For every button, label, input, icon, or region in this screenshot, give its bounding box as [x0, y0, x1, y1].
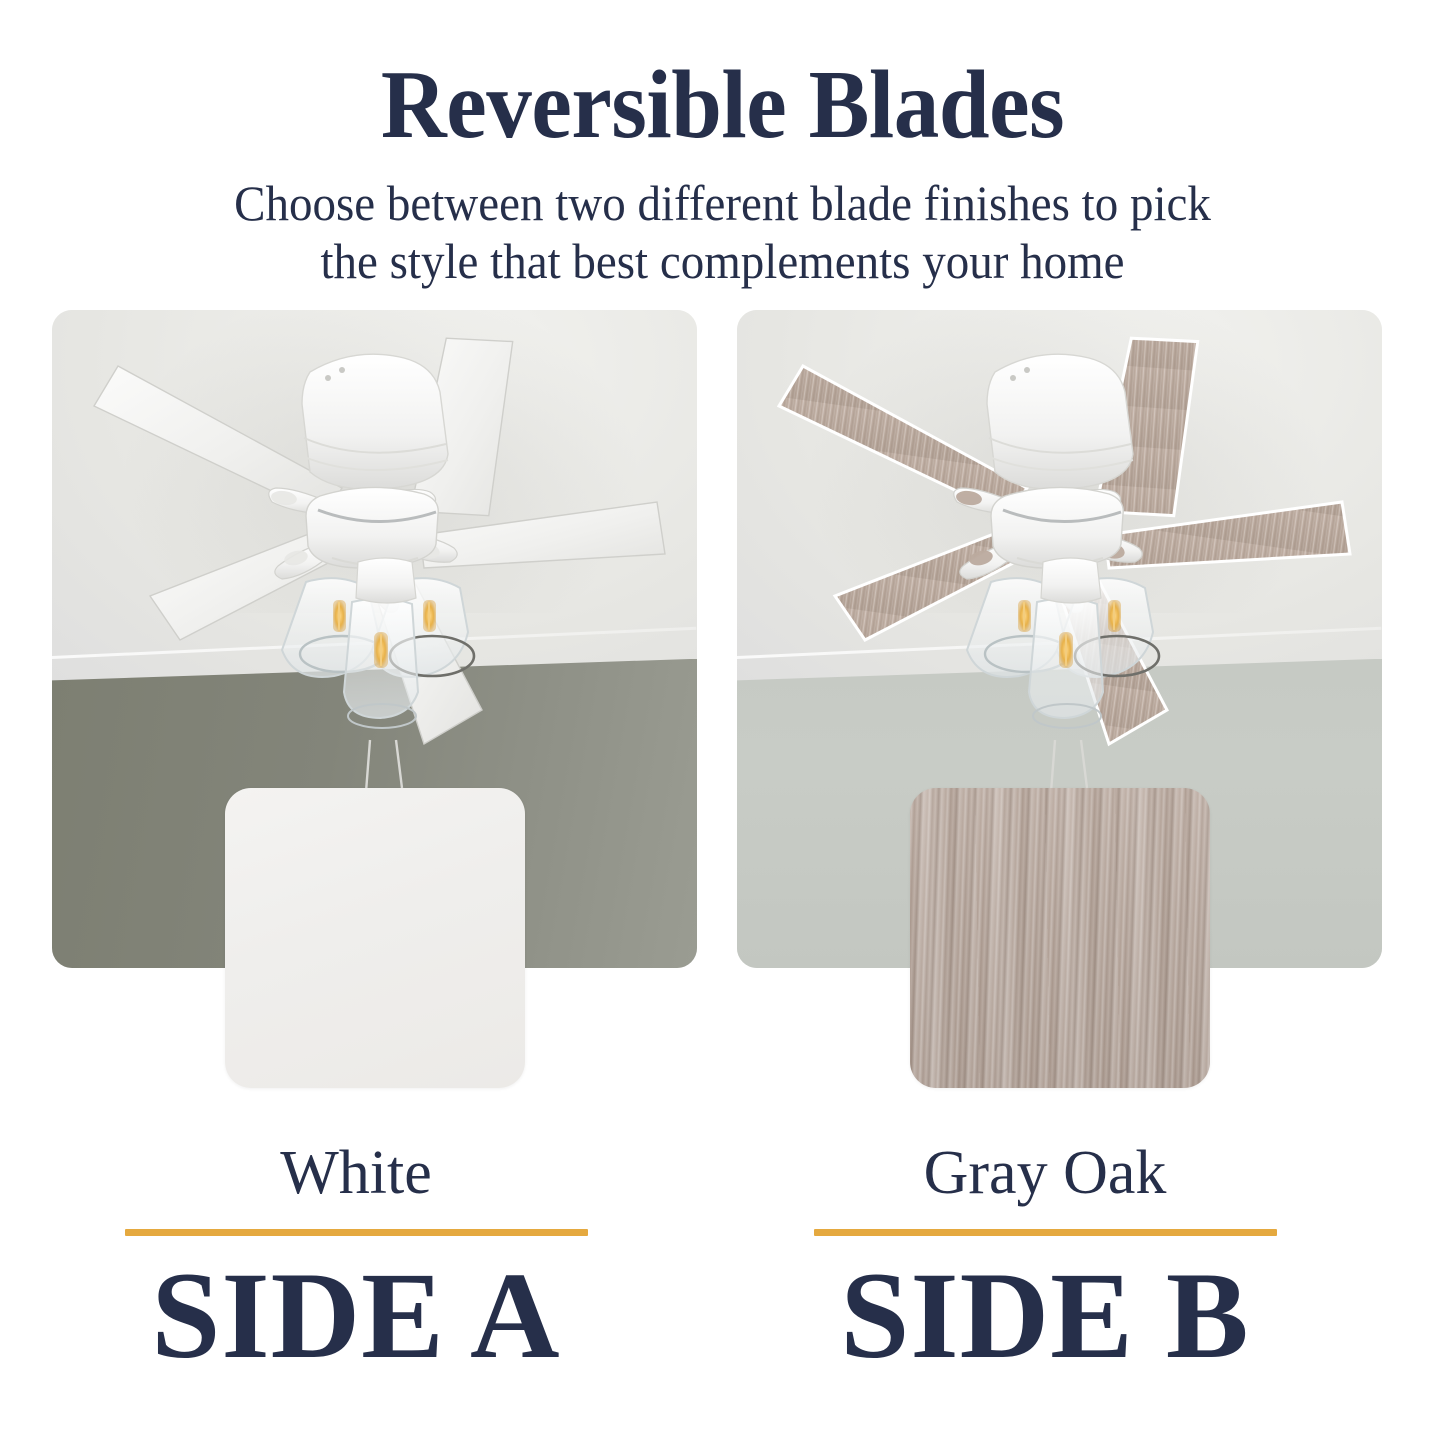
- panel-side-b: [737, 310, 1382, 968]
- accent-rule: [814, 1229, 1277, 1236]
- panel-side-a: [52, 310, 697, 968]
- side-label-a: SIDE A: [56, 1236, 656, 1378]
- glass-shade-center: [1029, 598, 1103, 728]
- subtitle-line-1: Choose between two different blade finis…: [234, 175, 1211, 231]
- subtitle-line-2: the style that best complements your hom…: [43, 232, 1401, 290]
- fan-switch-housing: [991, 487, 1123, 568]
- page-title: Reversible Blades: [51, 0, 1395, 154]
- white-finish-swatch: [225, 788, 525, 1088]
- accent-rule: [125, 1229, 588, 1236]
- finish-name-gray-oak: Gray Oak: [745, 1130, 1345, 1204]
- fan-motor-housing: [987, 354, 1133, 489]
- page-subtitle: Choose between two different blade finis…: [43, 154, 1401, 290]
- pull-chains: [366, 740, 402, 792]
- caption-side-b: Gray Oak SIDE B: [745, 1130, 1345, 1378]
- header: Reversible Blades Choose between two dif…: [0, 0, 1445, 290]
- side-label-b: SIDE B: [745, 1236, 1345, 1378]
- gray-oak-finish-swatch: [910, 788, 1210, 1088]
- finish-name-white: White: [56, 1130, 656, 1204]
- caption-side-a: White SIDE A: [56, 1130, 656, 1378]
- glass-shade-center: [344, 598, 418, 728]
- fan-switch-housing: [306, 487, 438, 568]
- fan-motor-housing: [302, 354, 448, 489]
- captions: White SIDE A Gray Oak SIDE B: [0, 1130, 1445, 1445]
- pull-chains: [1051, 740, 1087, 792]
